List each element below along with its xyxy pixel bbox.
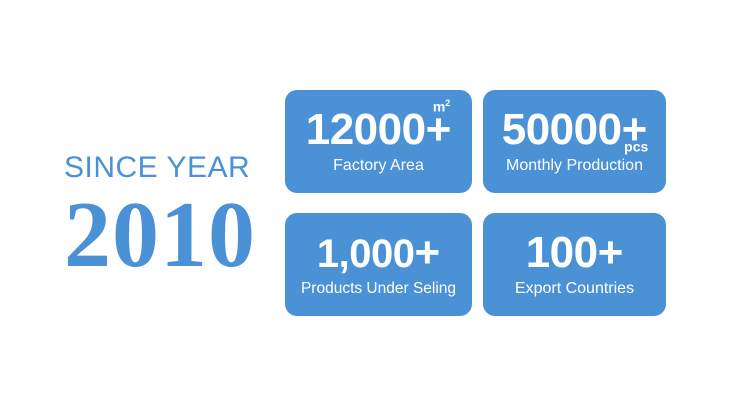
stat-card-export-countries[interactable]: 100+ Export Countries: [483, 213, 666, 316]
stat-unit: m2: [433, 99, 450, 114]
stat-value: 50000: [502, 105, 622, 154]
stat-label: Products Under Seling: [301, 280, 456, 298]
stat-card-monthly-production[interactable]: 50000+ pcs Monthly Production: [483, 90, 666, 193]
stat-value-group: 1,000+: [317, 231, 440, 275]
stat-value: 12000: [306, 105, 426, 154]
stat-plus-sign: +: [414, 228, 440, 277]
stat-unit-base: m: [433, 99, 445, 115]
stat-value: 100: [526, 228, 598, 277]
stat-value-group: 100+: [526, 231, 624, 275]
stat-label: Factory Area: [333, 157, 424, 175]
stat-value-group: 12000+ m2: [306, 108, 452, 152]
stat-label: Monthly Production: [506, 157, 643, 175]
stat-value: 1,000: [317, 232, 415, 276]
stat-label: Export Countries: [515, 280, 634, 298]
stat-value-group: 50000+ pcs: [502, 108, 648, 152]
since-year-eyebrow: SINCE YEAR: [64, 150, 274, 186]
stat-card-factory-area[interactable]: 12000+ m2 Factory Area: [285, 90, 472, 193]
infographic-stage: SINCE YEAR 2010 12000+ m2 Factory Area 5…: [0, 0, 750, 400]
founding-year: 2010: [64, 192, 274, 278]
stat-unit-base: pcs: [624, 139, 648, 155]
stat-plus-sign: +: [598, 228, 624, 277]
stat-card-products-under-selling[interactable]: 1,000+ Products Under Seling: [285, 213, 472, 316]
stat-unit: pcs: [624, 139, 648, 154]
headline-block: SINCE YEAR 2010: [64, 150, 274, 278]
stat-unit-exponent: 2: [445, 98, 450, 108]
